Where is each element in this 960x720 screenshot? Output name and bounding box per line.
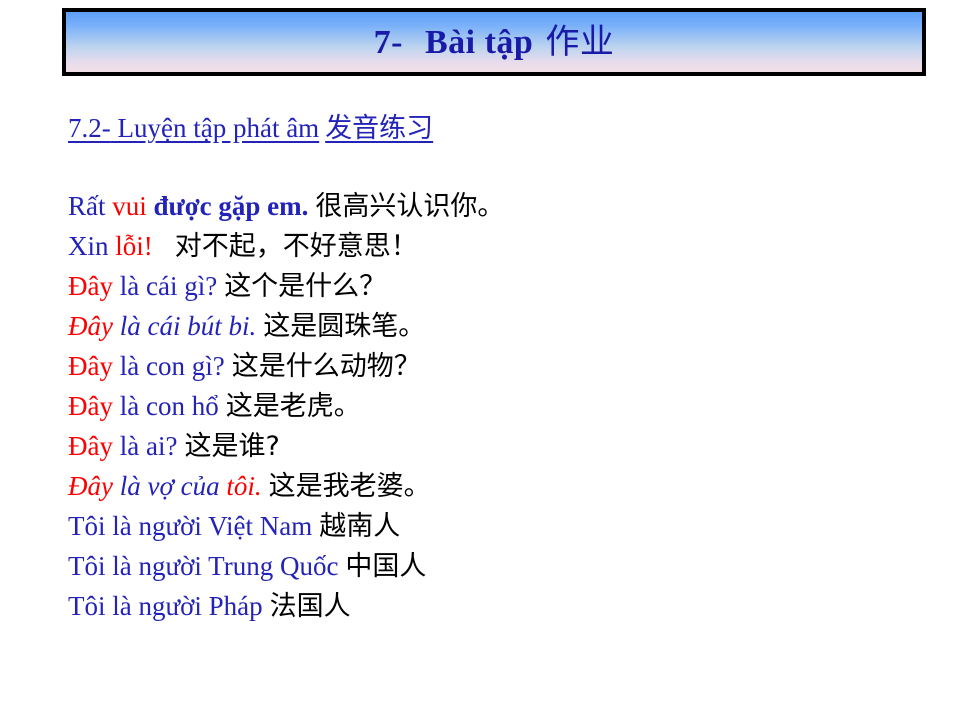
phrase-segment: Tôi là người Trung Quốc <box>68 551 338 581</box>
phrase-segment: Tôi là người Việt Nam <box>68 511 312 541</box>
phrase-segment: được gặp em. <box>154 191 309 221</box>
phrase-segment: là con hổ <box>120 391 219 421</box>
phrase-line: Đây là con gì?这是什么动物？ <box>68 346 928 386</box>
phrase-segment: là vợ của <box>120 471 227 501</box>
phrase-segment: Tôi là người Pháp <box>68 591 263 621</box>
phrase-segment: Đây <box>68 271 120 301</box>
phrase-line: Đây là ai?这是谁? <box>68 426 928 466</box>
phrase-segment: 很高兴认识你。 <box>308 191 504 222</box>
phrase-segment: là cái bút bi. <box>120 311 257 341</box>
title-chinese: 作业 <box>533 22 614 62</box>
phrase-line: Đây là cái gì?这个是什么？ <box>68 266 928 306</box>
phrase-line: Đây là vợ của tôi.这是我老婆。 <box>68 466 928 506</box>
phrase-segment: Đây <box>68 311 120 341</box>
phrase-segment: 这是圆珠笔。 <box>256 311 425 342</box>
title-number: 7- <box>374 24 425 61</box>
phrase-segment: 中国人 <box>338 551 426 582</box>
phrase-segment: 这是什么动物？ <box>225 351 421 382</box>
phrase-segment: 对不起，不好意思！ <box>153 231 418 262</box>
phrase-segment: 越南人 <box>312 511 400 542</box>
title-banner: 7-Bài tập作业 <box>62 8 926 76</box>
phrase-segment: vui <box>112 191 153 221</box>
subtitle-vietnamese: Luyện tập phát âm <box>118 113 320 143</box>
subtitle-chinese: 发音练习 <box>319 113 433 144</box>
phrase-segment: Đây <box>68 431 120 461</box>
phrase-segment: là ai? <box>120 431 178 461</box>
phrase-segment: Đây <box>68 471 120 501</box>
subtitle-number: 7.2- <box>68 113 111 143</box>
title-vietnamese: Bài tập <box>425 24 533 61</box>
phrase-line: Xin lỗi!对不起，不好意思！ <box>68 226 928 266</box>
phrase-segment: là cái gì? <box>120 271 217 301</box>
page-title: 7-Bài tập作业 <box>374 25 615 60</box>
phrase-segment: 这个是什么？ <box>217 271 386 302</box>
section-subtitle: 7.2- Luyện tập phát âm发音练习 <box>68 106 433 145</box>
phrase-list: Rất vui được gặp em.很高兴认识你。Xin lỗi!对不起，不… <box>68 186 928 626</box>
phrase-segment: Xin <box>68 231 115 261</box>
phrase-segment: tôi. <box>226 471 261 501</box>
phrase-segment: 法国人 <box>263 591 351 622</box>
phrase-segment: Đây <box>68 351 120 381</box>
phrase-line: Tôi là người Pháp法国人 <box>68 586 928 626</box>
phrase-segment: Đây <box>68 391 120 421</box>
phrase-line: Tôi là người Việt Nam越南人 <box>68 506 928 546</box>
phrase-segment: Rất <box>68 191 112 221</box>
phrase-line: Rất vui được gặp em.很高兴认识你。 <box>68 186 928 226</box>
phrase-segment: 这是我老婆。 <box>262 471 431 502</box>
phrase-line: Đây là cái bút bi.这是圆珠笔。 <box>68 306 928 346</box>
phrase-line: Đây là con hổ这是老虎。 <box>68 386 928 426</box>
phrase-segment: là con gì? <box>120 351 225 381</box>
phrase-segment: 这是老虎。 <box>219 391 361 422</box>
phrase-segment: lỗi! <box>115 231 153 261</box>
phrase-segment: 这是谁? <box>177 431 279 462</box>
phrase-line: Tôi là người Trung Quốc中国人 <box>68 546 928 586</box>
